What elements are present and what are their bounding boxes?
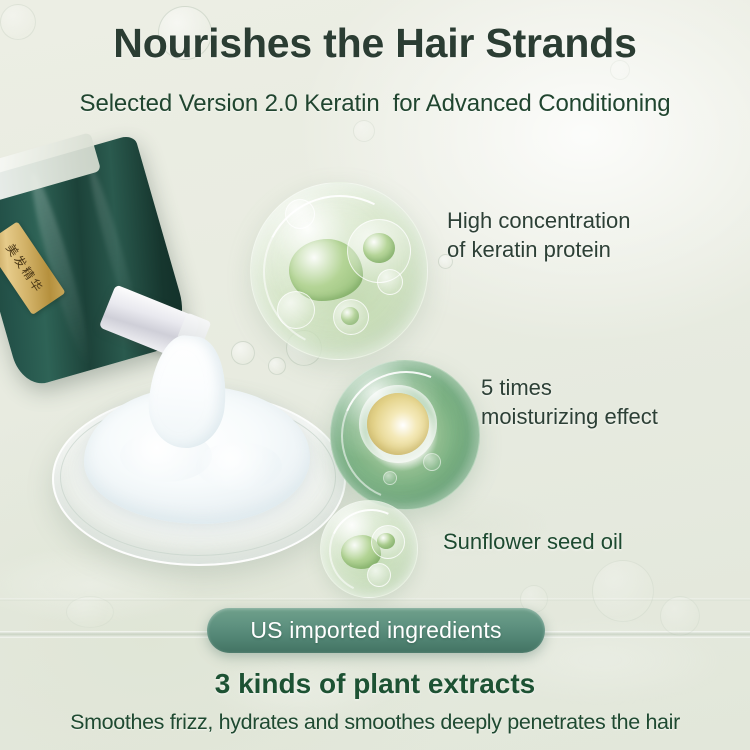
pouch-label-text: 美发精华 [2, 240, 47, 296]
product-marketing-banner: Nourishes the Hair Strands Selected Vers… [0, 0, 750, 750]
surface-edge-highlight [0, 598, 750, 601]
bubble-keratin [250, 182, 428, 360]
page-title: Nourishes the Hair Strands [0, 20, 750, 67]
bubble-moisturizing [330, 360, 480, 510]
footer-text: Smoothes frizz, hydrates and smoothes de… [0, 710, 750, 735]
background-bubble-icon [592, 560, 654, 622]
feature-label-moisturizing: 5 times moisturizing effect [481, 373, 658, 432]
background-bubble-icon [268, 357, 286, 375]
status-badge: US imported ingredients [207, 608, 545, 653]
feature-label-keratin: High concentration of keratin protein [447, 206, 630, 265]
background-bubble-icon [660, 596, 700, 636]
badge-label: US imported ingredients [250, 617, 501, 644]
tagline: 3 kinds of plant extracts [0, 668, 750, 700]
bubble-highlight [243, 175, 437, 369]
feature-label-sunflower: Sunflower seed oil [443, 527, 623, 556]
bubble-highlight [321, 351, 490, 520]
background-bubble-icon [66, 596, 114, 628]
cream-swirl [196, 442, 282, 490]
page-subtitle: Selected Version 2.0 Keratin for Advance… [0, 90, 750, 118]
bubble-sunflower [320, 500, 418, 598]
background-bubble-icon [353, 120, 375, 142]
